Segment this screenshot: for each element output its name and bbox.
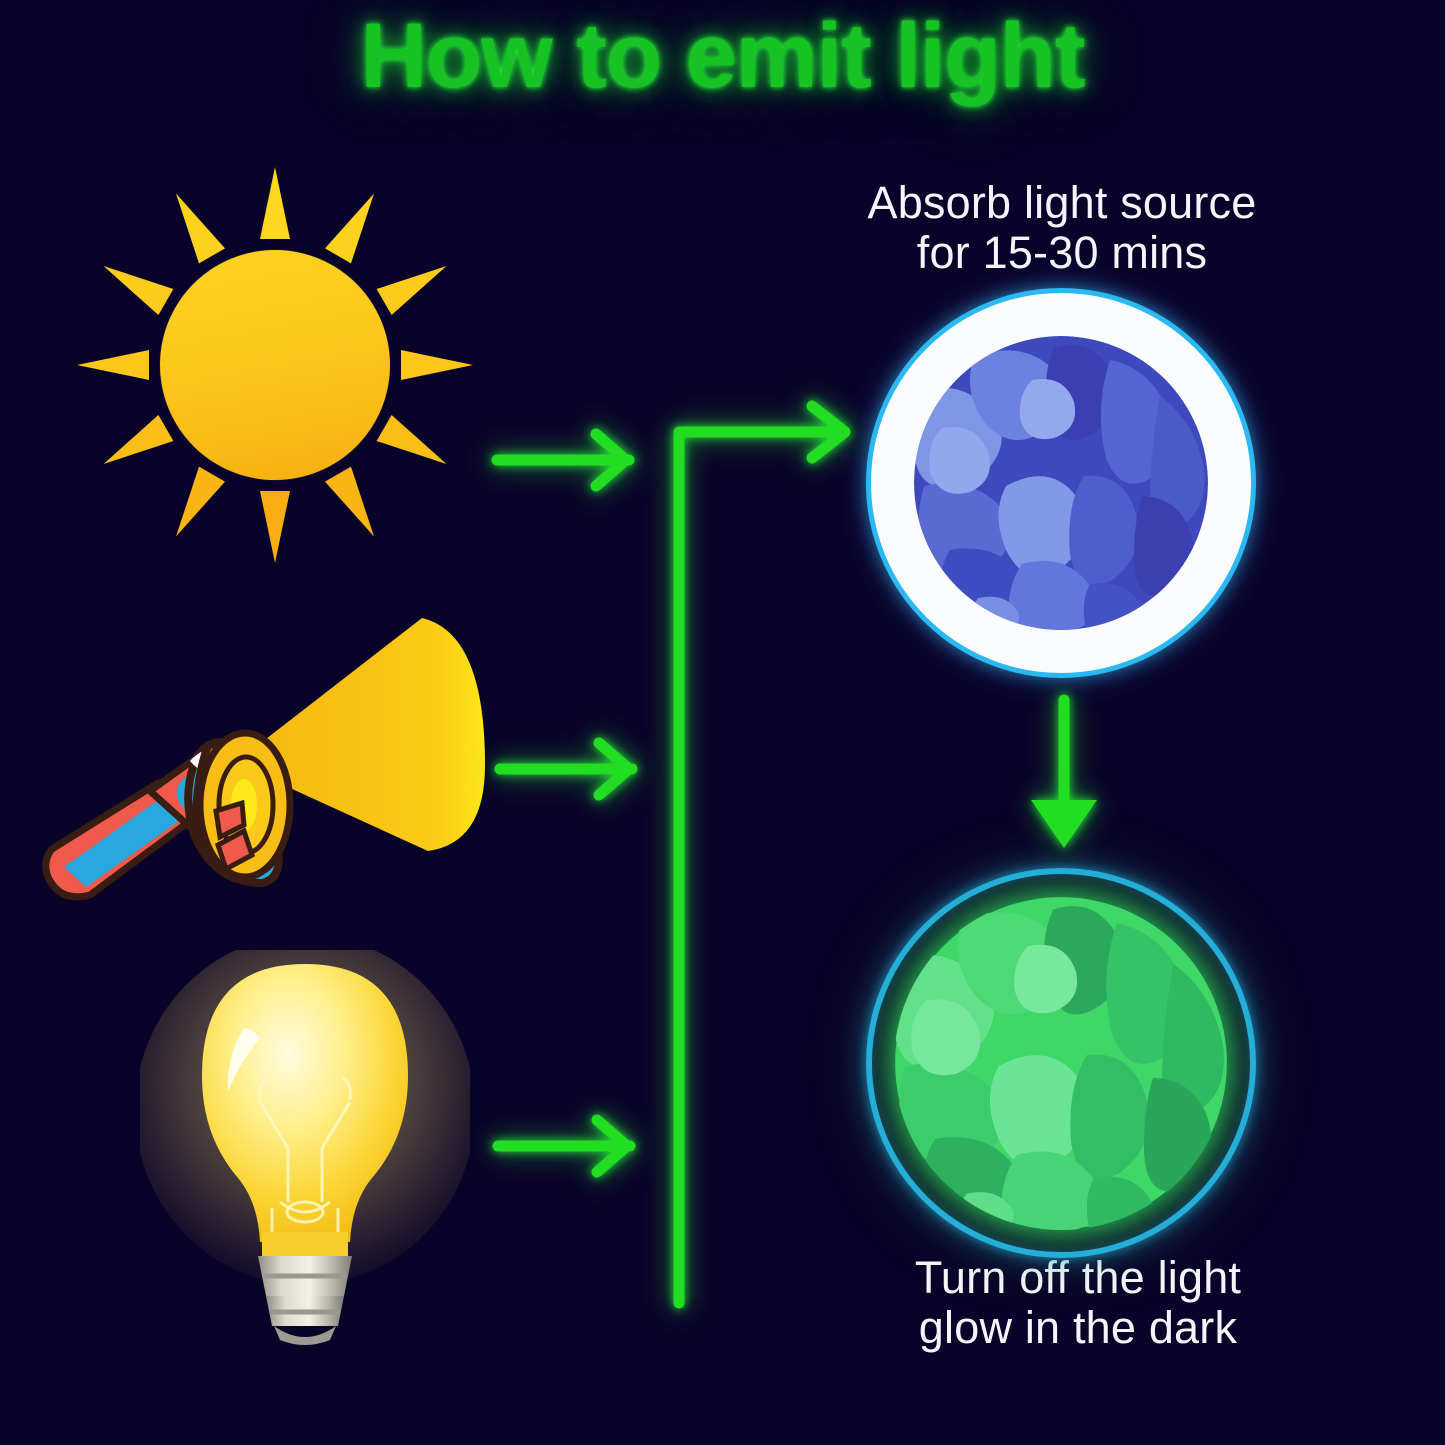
caption-absorb-light-source: Absorb light source for 15-30 mins: [842, 178, 1282, 279]
page-title: How to emit light: [0, 4, 1445, 109]
green-planet: [894, 896, 1228, 1230]
infographic-canvas: How to emit light Absorb light source fo…: [0, 0, 1445, 1445]
blue-planet: [914, 336, 1208, 630]
arrow-blue-to-green-planet: [1031, 700, 1097, 848]
blue-planet-circle: [866, 288, 1256, 678]
arrow-bulb-to-trunk: [498, 1120, 630, 1172]
arrow-trunk-to-blue-planet: [679, 406, 845, 1303]
arrow-flashlight-to-trunk: [500, 743, 632, 795]
green-planet-circle: [866, 868, 1256, 1258]
arrow-sun-to-trunk: [497, 434, 629, 486]
caption-turn-off-the-light: Turn off the light glow in the dark: [858, 1253, 1298, 1354]
sun-core: [160, 250, 390, 480]
flashlight-icon: [30, 615, 510, 915]
sun-icon: [55, 145, 495, 585]
light-bulb-icon: [140, 950, 470, 1350]
